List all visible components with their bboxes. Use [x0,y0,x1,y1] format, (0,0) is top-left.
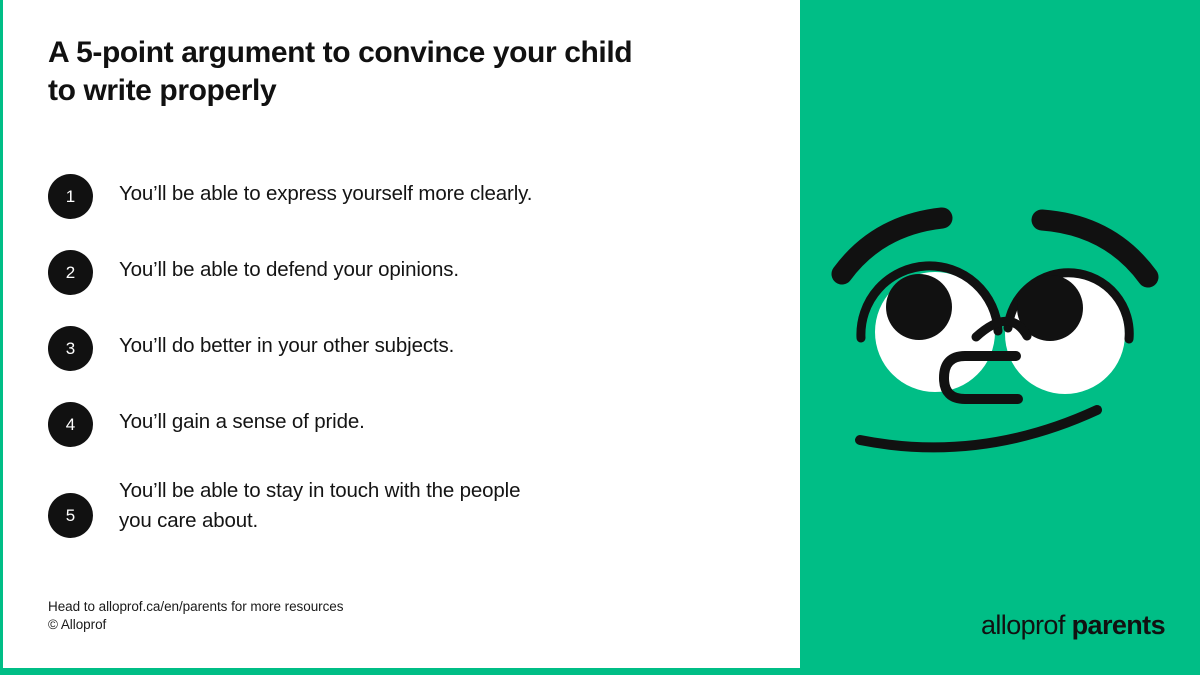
list-item: 3 You’ll do better in your other subject… [48,324,748,371]
list-number-badge: 5 [48,493,93,538]
logo-word-alloprof: alloprof [981,610,1065,640]
list-item: 4 You’ll gain a sense of pride. [48,400,748,447]
argument-list: 1 You’ll be able to express yourself mor… [48,172,748,538]
footer-credit: Head to alloprof.ca/en/parents for more … [48,598,343,634]
pupil-left-icon [886,274,952,340]
slide-canvas: A 5-point argument to convince your chil… [0,0,1200,675]
footer-copyright-line: © Alloprof [48,616,343,634]
smile-icon [860,410,1097,447]
list-item: 1 You’ll be able to express yourself mor… [48,172,748,219]
mascot-face-illustration [820,198,1200,470]
list-item-text: You’ll gain a sense of pride. [93,400,748,437]
list-number-badge: 4 [48,402,93,447]
alloprof-parents-logo: alloprof parents [981,612,1165,639]
eyebrow-right-icon [1042,220,1148,277]
list-item-text: You’ll do better in your other subjects. [93,324,748,361]
list-number-badge: 1 [48,174,93,219]
mascot-face-svg [820,198,1200,470]
list-item-text: You’ll be able to defend your opinions. [93,248,748,285]
page-title: A 5-point argument to convince your chil… [48,34,748,110]
list-item-text: You’ll be able to stay in touch with the… [93,476,748,536]
footer-resource-line: Head to alloprof.ca/en/parents for more … [48,598,343,616]
list-number-badge: 2 [48,250,93,295]
list-number-badge: 3 [48,326,93,371]
logo-word-parents: parents [1072,610,1165,640]
list-item: 2 You’ll be able to defend your opinions… [48,248,748,295]
list-item-text: You’ll be able to express yourself more … [93,172,748,209]
list-item: 5 You’ll be able to stay in touch with t… [48,476,748,538]
